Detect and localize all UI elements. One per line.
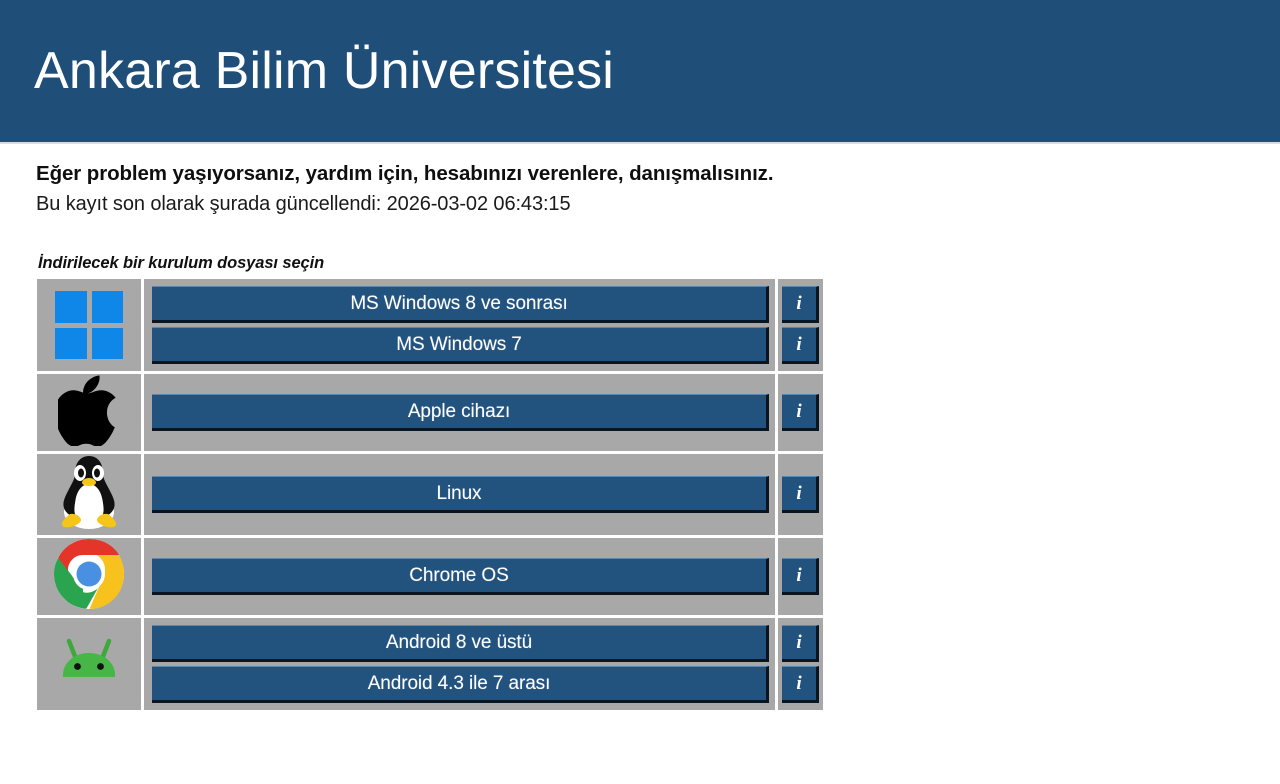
info-icon-button[interactable]: i <box>782 327 819 364</box>
info-icon-button[interactable]: i <box>782 625 819 662</box>
os-download-cell: MS Windows 8 ve sonrasıMS Windows 7 <box>144 279 775 371</box>
help-warning-text: Eğer problem yaşıyorsanız, yardım için, … <box>36 160 1280 187</box>
windows-icon <box>55 291 123 359</box>
download-button[interactable]: Linux <box>152 476 769 513</box>
notice-block: Eğer problem yaşıyorsanız, yardım için, … <box>0 144 1280 218</box>
info-icon-button[interactable]: i <box>782 558 819 595</box>
os-icon-cell <box>37 618 144 710</box>
download-button-line: Android 8 ve üstü <box>144 623 775 664</box>
os-info-cell: ii <box>775 279 823 371</box>
info-icon-button[interactable]: i <box>782 666 819 703</box>
download-button[interactable]: MS Windows 8 ve sonrası <box>152 286 769 323</box>
select-installer-label: İndirilecek bir kurulum dosyası seçin <box>38 254 1280 273</box>
site-header-banner: Ankara Bilim Üniversitesi <box>0 0 1280 144</box>
os-info-cell: ii <box>775 618 823 710</box>
info-icon-button[interactable]: i <box>782 286 819 323</box>
os-info-cell: i <box>775 454 823 535</box>
download-button[interactable]: Apple cihazı <box>152 394 769 431</box>
apple-icon <box>58 374 120 451</box>
os-icon-cell <box>37 538 144 615</box>
last-updated-text: Bu kayıt son olarak şurada güncellendi: … <box>36 191 1280 218</box>
table-row: MS Windows 8 ve sonrasıMS Windows 7ii <box>37 279 823 371</box>
info-icon-button[interactable]: i <box>782 394 819 431</box>
download-button[interactable]: MS Windows 7 <box>152 327 769 364</box>
download-button[interactable]: Android 8 ve üstü <box>152 625 769 662</box>
table-row: Apple cihazıi <box>37 371 823 451</box>
os-info-cell: i <box>775 374 823 451</box>
page-title: Ankara Bilim Üniversitesi <box>34 45 614 97</box>
installer-os-table: MS Windows 8 ve sonrasıMS Windows 7iiApp… <box>37 279 823 710</box>
os-icon-cell <box>37 374 144 451</box>
chrome-os-icon <box>53 538 125 615</box>
download-button-line: Android 4.3 ile 7 arası <box>144 664 775 705</box>
os-download-cell: Apple cihazı <box>144 374 775 451</box>
linux-tux-icon <box>58 454 120 535</box>
table-row: Chrome OSi <box>37 535 823 615</box>
os-download-cell: Android 8 ve üstüAndroid 4.3 ile 7 arası <box>144 618 775 710</box>
download-button[interactable]: Chrome OS <box>152 558 769 595</box>
download-button-line: Chrome OS <box>144 556 775 597</box>
info-icon-button[interactable]: i <box>782 476 819 513</box>
android-icon <box>51 633 127 696</box>
table-row: Android 8 ve üstüAndroid 4.3 ile 7 arası… <box>37 615 823 710</box>
download-button-line: MS Windows 8 ve sonrası <box>144 284 775 325</box>
download-button-line: Linux <box>144 474 775 515</box>
table-row: Linuxi <box>37 451 823 535</box>
os-info-cell: i <box>775 538 823 615</box>
os-download-cell: Linux <box>144 454 775 535</box>
download-button-line: Apple cihazı <box>144 392 775 433</box>
download-button[interactable]: Android 4.3 ile 7 arası <box>152 666 769 703</box>
download-button-line: MS Windows 7 <box>144 325 775 366</box>
os-download-cell: Chrome OS <box>144 538 775 615</box>
os-icon-cell <box>37 279 144 371</box>
os-icon-cell <box>37 454 144 535</box>
